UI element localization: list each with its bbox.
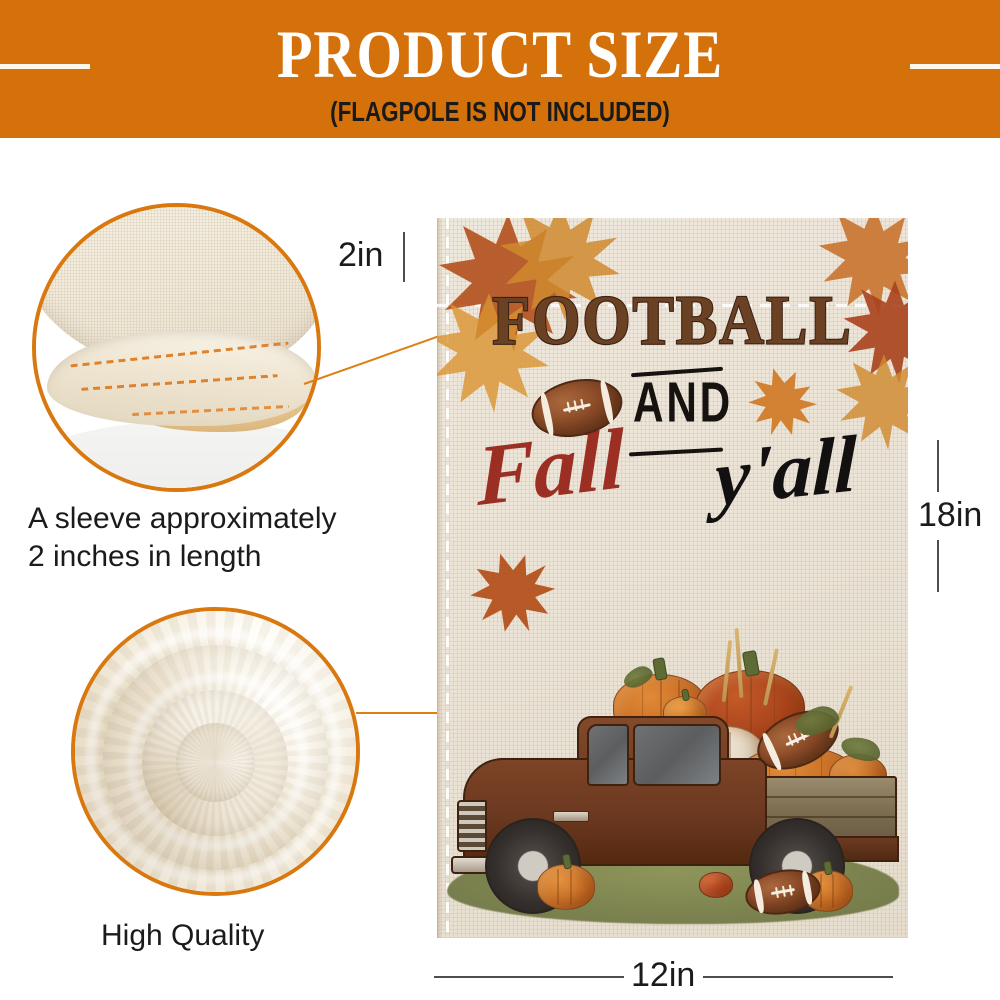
sleeve-closeup-circle <box>32 203 321 492</box>
quality-caption: High Quality <box>101 917 264 955</box>
truck-grille <box>457 800 487 852</box>
garden-flag-image: FOOTBALL AND Fall y'all <box>437 218 908 938</box>
dimension-tick-sleeve <box>403 232 405 282</box>
truck-scene <box>437 608 908 938</box>
sleeve-caption: A sleeve approximately 2 inches in lengt… <box>28 500 337 576</box>
and-rule-bottom <box>629 448 723 457</box>
header-banner: PRODUCT SIZE (FLAGPOLE IS NOT INCLUDED) <box>0 0 1000 138</box>
dimension-label-width: 12in <box>631 957 695 993</box>
dimension-rule-width-left <box>434 976 624 978</box>
swirled-fabric-icon <box>75 611 356 892</box>
fabric-sleeve-icon <box>36 207 317 488</box>
fabric-quality-circle <box>71 607 360 896</box>
page-subtitle: (FLAGPOLE IS NOT INCLUDED) <box>100 97 900 127</box>
leader-line-sleeve <box>304 335 441 385</box>
page-title: PRODUCT SIZE <box>70 18 930 90</box>
flag-headline: FOOTBALL <box>437 286 908 355</box>
truck-badge <box>553 811 589 822</box>
flag-script-right: y'all <box>714 421 857 522</box>
truck-window <box>633 724 721 786</box>
pumpkin-icon <box>537 864 595 910</box>
dimension-rule-height-bottom <box>937 540 939 592</box>
flag-conjunction: AND <box>633 373 733 432</box>
dimension-rule-height-top <box>937 440 939 492</box>
dimension-label-sleeve: 2in <box>338 237 383 273</box>
pumpkin-icon <box>699 872 733 898</box>
dimension-label-height: 18in <box>918 497 982 533</box>
dimension-rule-width-right <box>703 976 893 978</box>
truck-window <box>587 724 629 786</box>
